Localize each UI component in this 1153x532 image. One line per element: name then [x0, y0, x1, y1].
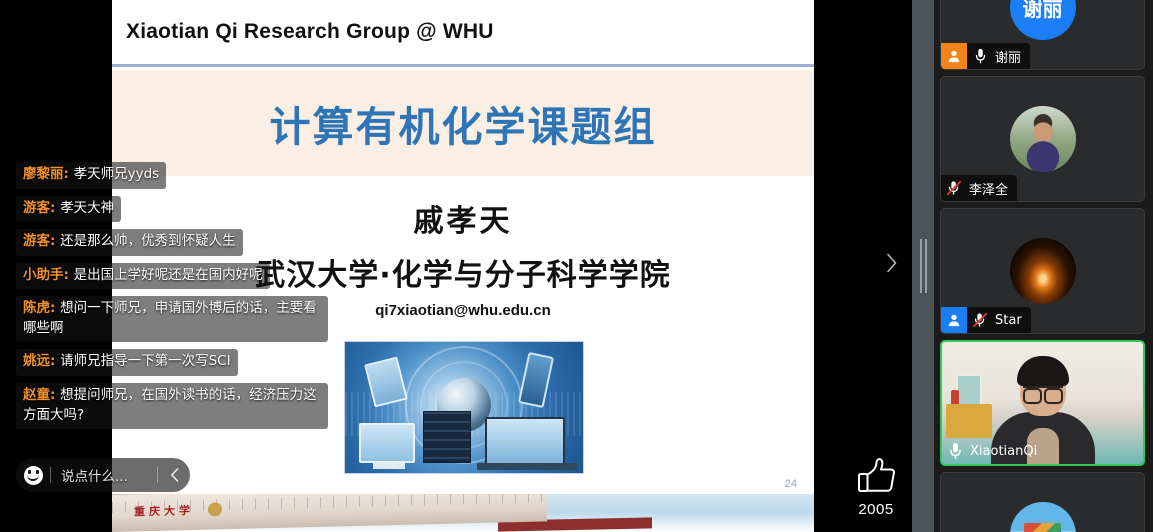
chat-separator: : — [50, 200, 60, 216]
chat-message: 游客: 孝天大神 — [16, 196, 121, 223]
participant-nameplate: XiaotianQi — [942, 438, 1046, 464]
chat-separator: : — [50, 300, 60, 316]
chat-message: 游客: 还是那么帅，优秀到怀疑人生 — [16, 229, 243, 256]
chat-sender: 廖黎丽 — [23, 166, 64, 182]
emoji-smiley-icon[interactable] — [16, 466, 50, 485]
chat-text: 想提问师兄，在国外读书的话，经济压力这方面大吗? — [23, 387, 317, 423]
cabinet-decoration — [946, 404, 992, 438]
server-rack-icon — [423, 411, 471, 463]
university-seal-icon — [208, 502, 222, 516]
glasses-icon — [1023, 386, 1063, 399]
chat-sender: 小助手 — [23, 267, 64, 283]
slide-page-number: 24 — [785, 478, 797, 490]
chat-sender: 姚远 — [23, 353, 50, 369]
participant-name: 李泽全 — [969, 179, 1008, 198]
chat-input-bar[interactable]: 说点什么... — [16, 458, 190, 492]
university-building-photo: 重庆大学 — [112, 494, 547, 532]
chat-separator: : — [50, 387, 60, 403]
slide-band-title: 计算有机化学课题组 — [270, 93, 657, 153]
mic-on-icon — [942, 438, 968, 464]
chat-overlay: 廖黎丽: 孝天师兄yyds 游客: 孝天大神 游客: 还是那么帅，优秀到怀疑人生… — [16, 162, 328, 429]
chat-sender: 陈虎 — [23, 300, 50, 316]
chat-sender: 游客 — [23, 233, 50, 249]
slide-header: Xiaotian Qi Research Group @ WHU — [112, 0, 814, 67]
avatar — [1010, 238, 1076, 304]
chat-separator: : — [50, 353, 60, 369]
chat-message: 小助手: 是出国上学好呢还是在国内好呢 — [16, 263, 270, 290]
chat-separator: : — [50, 233, 60, 249]
participant-tile[interactable]: Star — [940, 208, 1145, 334]
meeting-app-window: Xiaotian Qi Research Group @ WHU 计算有机化学课… — [0, 0, 1153, 532]
avatar: 谢丽 — [1010, 0, 1076, 40]
chevron-left-icon[interactable] — [158, 468, 190, 482]
slide-footer-photo: 重庆大学 — [112, 494, 814, 532]
user-badge-icon — [941, 43, 967, 69]
avatar — [1010, 502, 1076, 532]
chat-message: 廖黎丽: 孝天师兄yyds — [16, 162, 166, 189]
participant-tile[interactable] — [940, 472, 1145, 532]
thumbs-up-icon — [854, 456, 898, 498]
user-badge-icon — [941, 307, 967, 333]
computing-devices-illustration — [344, 341, 584, 474]
chat-separator: : — [64, 166, 74, 182]
building-sign-text: 重庆大学 — [134, 502, 194, 519]
like-count: 2005 — [858, 501, 893, 518]
chevron-right-icon[interactable] — [886, 253, 898, 279]
laptop-icon — [485, 417, 565, 465]
like-button[interactable]: 2005 — [854, 456, 898, 518]
picture-frame-decoration — [956, 374, 982, 406]
chat-text: 孝天师兄yyds — [74, 166, 160, 182]
chat-sender: 游客 — [23, 200, 50, 216]
chat-text: 孝天大神 — [60, 200, 114, 216]
slide-title-band: 计算有机化学课题组 — [112, 70, 814, 176]
desktop-monitor-icon — [359, 423, 415, 463]
person-hair — [1017, 356, 1069, 386]
chat-separator: : — [64, 267, 74, 283]
chat-message: 赵童: 想提问师兄，在国外读书的话，经济压力这方面大吗? — [16, 383, 328, 429]
participants-sidebar[interactable]: 谢丽 谢丽 — [934, 0, 1153, 532]
chat-input-placeholder[interactable]: 说点什么... — [51, 465, 157, 485]
slide-header-title: Xiaotian Qi Research Group @ WHU — [126, 20, 494, 44]
chat-text: 是出国上学好呢还是在国内好呢 — [74, 267, 263, 283]
participant-nameplate: Star — [941, 307, 1031, 333]
participant-nameplate: 李泽全 — [941, 175, 1017, 201]
participant-name: Star — [995, 313, 1022, 328]
participant-name: XiaotianQi — [970, 444, 1037, 459]
mic-on-icon — [967, 43, 993, 69]
participant-nameplate: 谢丽 — [941, 43, 1030, 69]
chat-message: 姚远: 请师兄指导一下第一次写SCI — [16, 349, 238, 376]
chat-text: 想问一下师兄，申请国外博后的话，主要看哪些啊 — [23, 300, 317, 336]
chat-text: 请师兄指导一下第一次写SCI — [60, 353, 230, 369]
avatar — [1010, 106, 1076, 172]
chat-text: 还是那么帅，优秀到怀疑人生 — [60, 233, 236, 249]
chat-sender: 赵童 — [23, 387, 50, 403]
shared-screen-stage[interactable]: Xiaotian Qi Research Group @ WHU 计算有机化学课… — [0, 0, 934, 532]
participant-tile-active[interactable]: XiaotianQi — [940, 340, 1145, 466]
participant-name: 谢丽 — [995, 47, 1021, 66]
participant-tile[interactable]: 李泽全 — [940, 76, 1145, 202]
mic-muted-icon — [967, 307, 993, 333]
participant-tile[interactable]: 谢丽 谢丽 — [940, 0, 1145, 70]
panel-drag-handle[interactable] — [912, 0, 934, 532]
mic-muted-icon — [941, 175, 967, 201]
chat-message: 陈虎: 想问一下师兄，申请国外博后的话，主要看哪些啊 — [16, 296, 328, 342]
